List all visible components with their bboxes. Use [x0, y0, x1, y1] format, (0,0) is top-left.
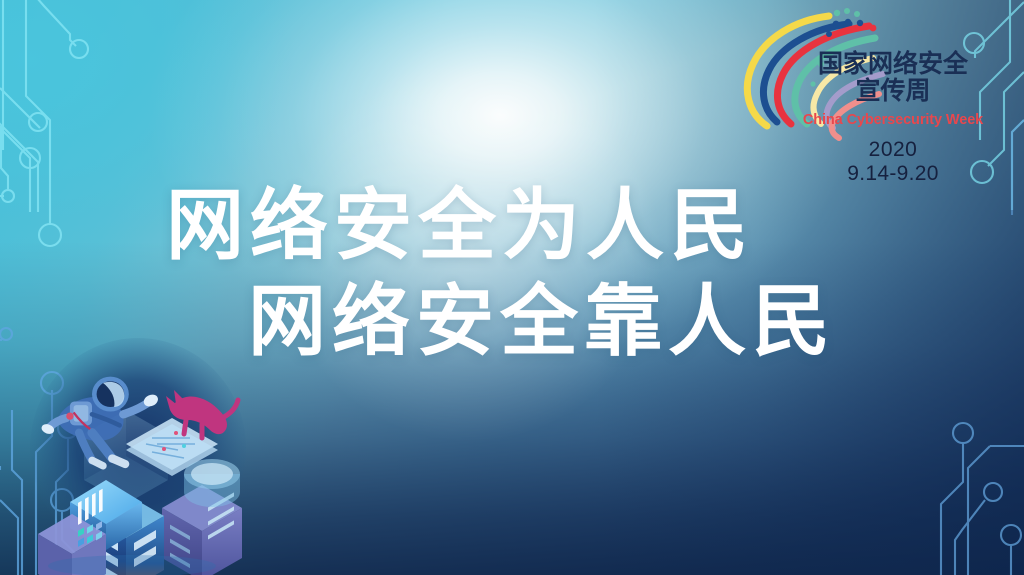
logo-year: 2020 [795, 138, 991, 162]
headline-line-1: 网络安全为人民 [166, 178, 1024, 274]
poster-canvas: 国家网络安全 宣传周 China Cybersecurity Week 2020… [0, 0, 1024, 575]
logo-english-name: China Cybersecurity Week [795, 112, 991, 128]
logo-chinese-line-1: 国家网络安全 [793, 50, 993, 77]
headline-line-2: 网络安全靠人民 [248, 274, 1024, 370]
logo-chinese-line-2: 宣传周 [793, 77, 993, 105]
cybersecurity-week-logo: 国家网络安全 宣传周 China Cybersecurity Week 2020… [733, 2, 995, 192]
poster-headline: 网络安全为人民 网络安全靠人民 [0, 178, 1024, 370]
logo-chinese-name: 国家网络安全 宣传周 [793, 50, 993, 105]
